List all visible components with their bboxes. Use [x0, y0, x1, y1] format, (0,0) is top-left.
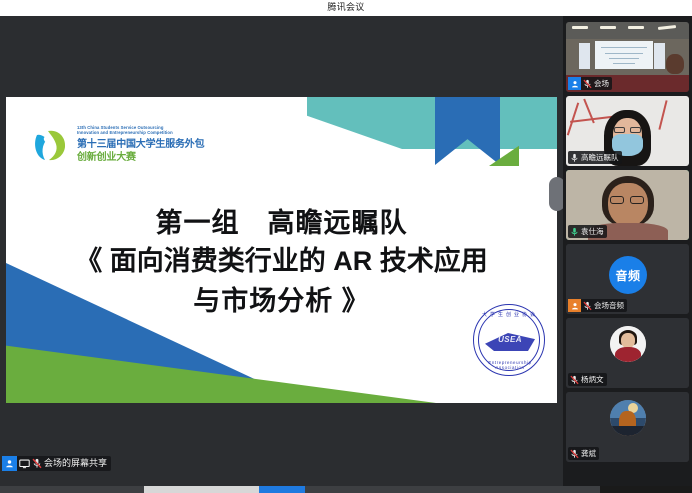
os-taskbar-window-active[interactable]	[259, 486, 305, 493]
participant-name: 高瞻远瞩队	[580, 151, 619, 164]
os-taskbar-sliver	[0, 486, 692, 493]
participant-tile-avatar-2[interactable]: 龚斌	[566, 392, 689, 462]
teal-band-decoration	[307, 97, 557, 149]
person-icon	[568, 77, 581, 90]
slide-title-line2: 《 面向消费类行业的 AR 技术应用	[6, 241, 557, 281]
screen-root: 腾讯会议	[0, 0, 692, 493]
monitor-icon	[17, 456, 31, 471]
participant-badge: 杨炳文	[568, 373, 607, 386]
participant-tile-team[interactable]: 高瞻远瞩队	[566, 96, 689, 166]
seal-english-ring-text: Entrepreneurship Association	[474, 360, 546, 370]
participant-tile-active-speaker[interactable]: 袁仕海	[566, 170, 689, 240]
participant-name: 会场音频	[593, 299, 624, 312]
screen-share-owner-label: 会场的屏幕共享	[43, 456, 107, 471]
person-icon	[2, 456, 17, 471]
window-titlebar: 腾讯会议	[0, 0, 692, 16]
meeting-window: 13th China Students Service Outsourcing …	[0, 16, 692, 493]
blue-ribbon-decoration	[435, 97, 500, 165]
participant-name: 会场	[593, 77, 609, 90]
seal-chinese-ring-text: 大学生创业协会	[474, 311, 546, 318]
seal-abbreviation: USEA	[490, 335, 530, 344]
participant-name: 杨炳文	[580, 373, 604, 386]
app-title: 腾讯会议	[0, 1, 692, 14]
mic-muted-icon	[568, 447, 580, 460]
slide-title-block: 第一组 高瞻远瞩队 《 面向消费类行业的 AR 技术应用 与市场分析 》	[6, 205, 557, 321]
competition-logo: 13th China Students Service Outsourcing …	[31, 125, 213, 167]
avatar	[610, 326, 646, 362]
mic-muted-icon	[568, 151, 580, 164]
competition-logo-text: 13th China Students Service Outsourcing …	[77, 125, 213, 164]
participant-name: 袁仕海	[580, 225, 604, 238]
mic-muted-icon	[31, 456, 43, 471]
competition-logo-mark	[31, 127, 71, 165]
logo-chinese-line1: 第十三届中国大学生服务外包	[77, 138, 213, 151]
participant-badge: 会场音频	[568, 299, 627, 312]
participant-badge: 会场	[568, 77, 612, 90]
logo-english-line2: Innovation and Entrepreneurship Competit…	[77, 130, 213, 135]
screen-share-owner-chip: 会场的屏幕共享	[2, 456, 111, 471]
mic-active-icon	[568, 225, 580, 238]
shared-screen-stage[interactable]: 13th China Students Service Outsourcing …	[0, 16, 563, 477]
participant-tile-venue[interactable]: 会场	[566, 22, 689, 92]
participant-name: 龚斌	[580, 447, 596, 460]
os-taskbar-window-light[interactable]	[144, 486, 259, 493]
association-seal: 大学生创业协会 USEA Entrepreneurship Associatio…	[473, 304, 545, 376]
mic-muted-icon	[581, 299, 593, 312]
os-taskbar-tray	[600, 486, 692, 493]
participant-tile-avatar-1[interactable]: 杨炳文	[566, 318, 689, 388]
participant-badge: 龚斌	[568, 447, 599, 460]
logo-chinese-line2: 创新创业大赛	[77, 151, 213, 164]
participant-badge: 高瞻远瞩队	[568, 151, 622, 164]
slide-title-line1: 第一组 高瞻远瞩队	[6, 205, 557, 241]
participant-tile-venue-audio[interactable]: 音频 会场音频	[566, 244, 689, 314]
person-icon	[568, 299, 581, 312]
mic-muted-icon	[581, 77, 593, 90]
participant-badge: 袁仕海	[568, 225, 607, 238]
participant-rail[interactable]: 会场	[563, 16, 692, 493]
audio-placeholder-label: 音频	[609, 256, 647, 294]
avatar	[610, 400, 646, 436]
presentation-slide: 13th China Students Service Outsourcing …	[6, 97, 557, 403]
mic-muted-icon	[568, 373, 580, 386]
